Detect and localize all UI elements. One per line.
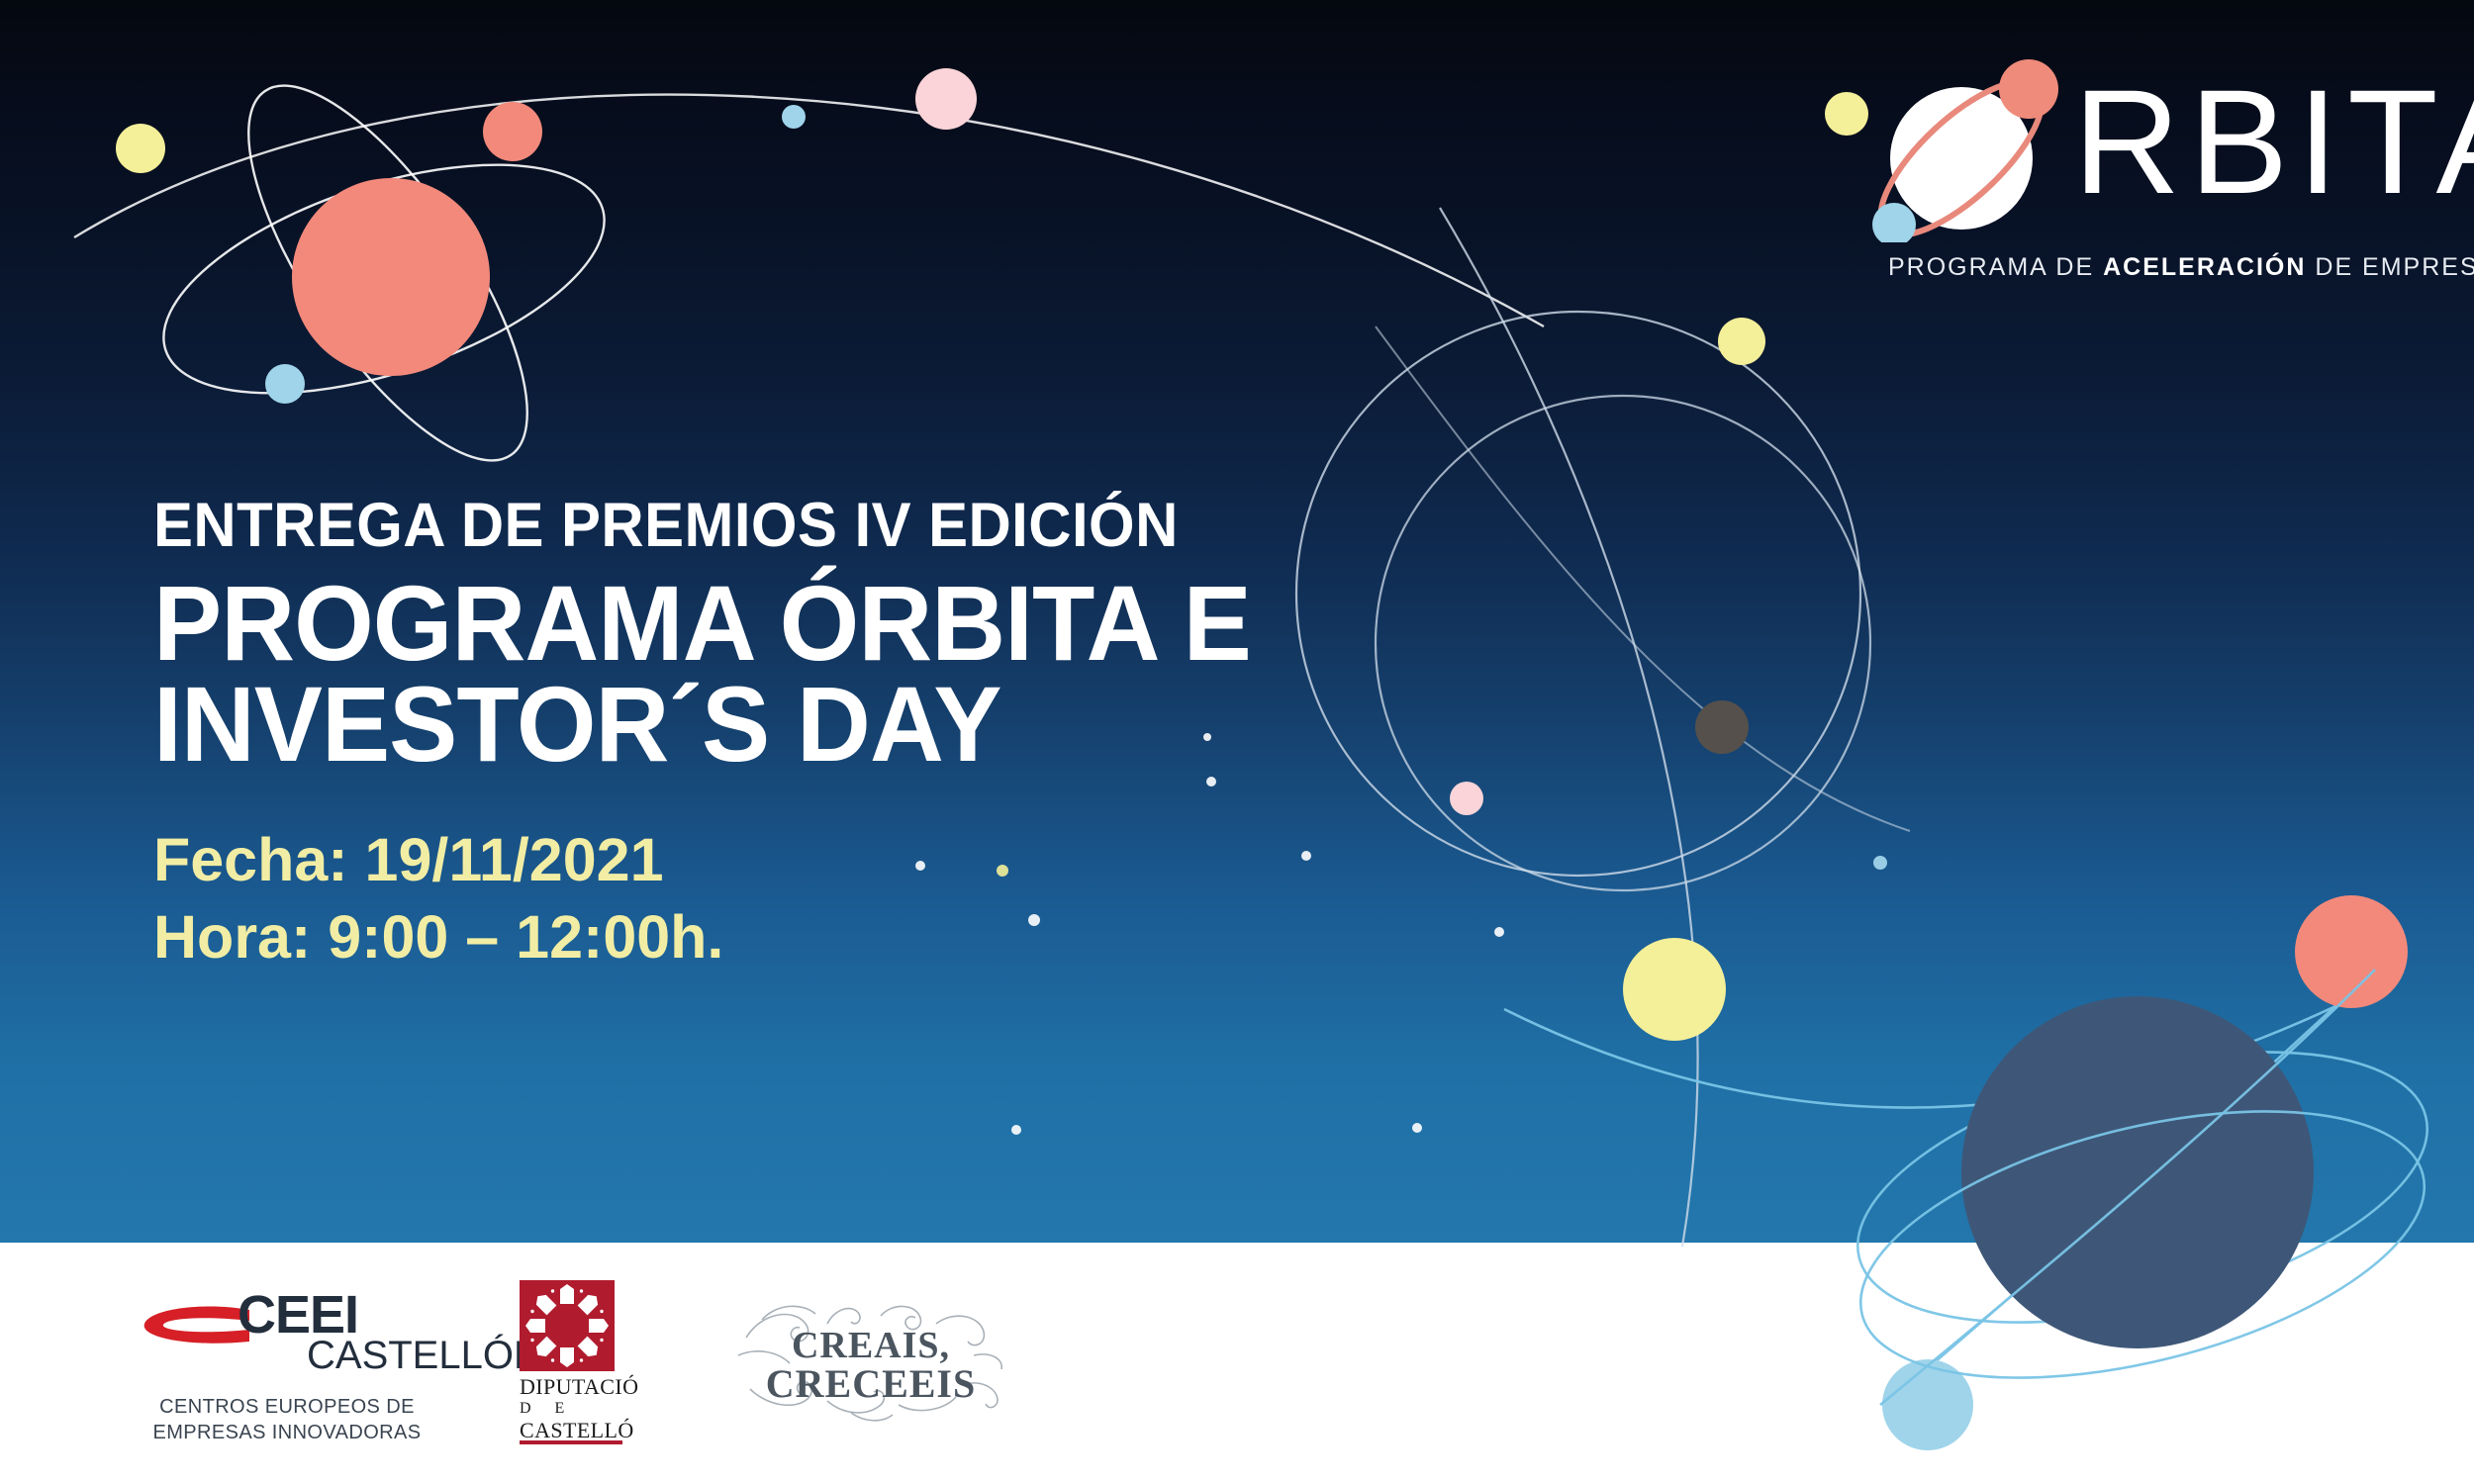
orbita-wordmark: RBITA: [2073, 67, 2474, 216]
poster-canvas: ENTREGA DE PREMIOS IV EDICIÓN PROGRAMA Ó…: [0, 0, 2474, 1484]
creais-line-2: CRECEEIS: [766, 1361, 977, 1406]
creais-line-1: CREAIS,: [792, 1325, 950, 1366]
event-time-line: Hora: 9:00 – 12:00h.: [153, 898, 1638, 975]
diputacio-line-2: D E: [520, 1399, 630, 1419]
planet-salmon-bottom-right: [2295, 895, 2408, 1008]
logo-diputacio-castello: DIPUTACIÓ D E CASTELLÓ: [520, 1280, 638, 1443]
tagline-suffix: DE EMPRESAS: [2306, 253, 2474, 281]
logo-creais-creceeis: CREAIS, CRECEEIS: [732, 1294, 1009, 1428]
tagline-prefix: PROGRAMA DE: [1888, 253, 2103, 281]
diputacio-line-1: DIPUTACIÓ: [520, 1375, 630, 1399]
kicker-line: ENTREGA DE PREMIOS IV EDICIÓN: [153, 495, 1564, 557]
orbita-tagline: PROGRAMA DE ACELERACIÓN DE EMPRESAS: [1888, 253, 2442, 282]
main-headline: PROGRAMA ÓRBITA E INVESTOR´S DAY: [153, 573, 1578, 774]
tagline-emphasis: ACELERACIÓN: [2103, 253, 2306, 281]
orbita-logo: RBITA PROGRAMA DE ACELERACIÓN DE EMPRESA…: [1821, 59, 2474, 297]
logo-planet-salmon-icon: [1999, 59, 2058, 119]
event-date-line: Fecha: 19/11/2021: [153, 821, 1638, 898]
headline-block: ENTREGA DE PREMIOS IV EDICIÓN PROGRAMA Ó…: [153, 495, 1638, 975]
ceei-sub-text: CASTELLÓN: [307, 1336, 542, 1375]
diputacio-line-3: CASTELLÓ: [520, 1419, 630, 1442]
ceei-lockup: CEEI CASTELLÓN: [139, 1290, 435, 1351]
sponsor-logo-row: CEEI CASTELLÓN CENTROS EUROPEOS DE EMPRE…: [0, 1243, 2474, 1484]
headline-line-2: INVESTOR´S DAY: [153, 674, 1578, 775]
logo-ceei-castellon: CEEI CASTELLÓN CENTROS EUROPEOS DE EMPRE…: [139, 1290, 435, 1438]
diputacio-red-rule: [520, 1440, 622, 1444]
diputacio-text: DIPUTACIÓ D E CASTELLÓ: [520, 1375, 630, 1442]
ceei-caption: CENTROS EUROPEOS DE EMPRESAS INNOVADORAS: [139, 1395, 435, 1445]
logo-planet-yellow-icon: [1825, 92, 1868, 136]
event-details-block: Fecha: 19/11/2021 Hora: 9:00 – 12:00h.: [153, 821, 1638, 975]
diputacio-emblem-icon: [520, 1280, 615, 1371]
ceei-caption-line-2: EMPRESAS INNOVADORAS: [139, 1421, 435, 1446]
ceei-caption-line-1: CENTROS EUROPEOS DE: [139, 1395, 435, 1421]
